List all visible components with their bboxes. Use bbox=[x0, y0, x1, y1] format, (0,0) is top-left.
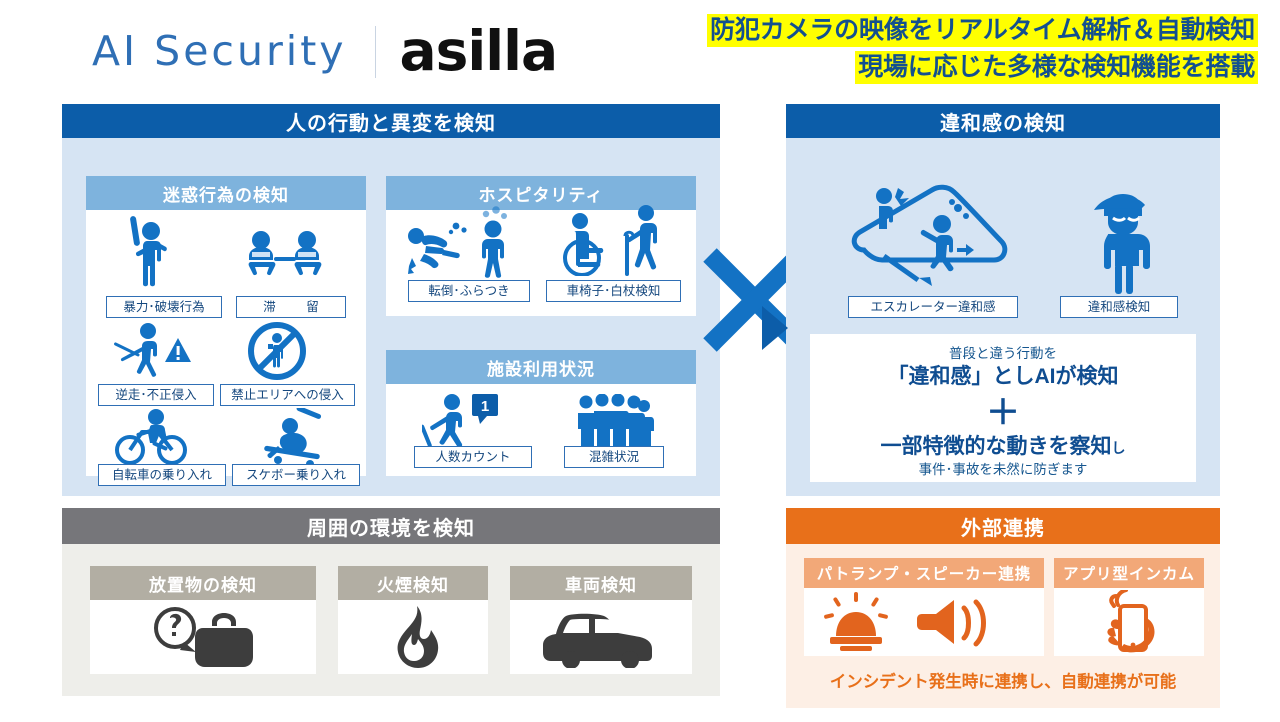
insight-line-3-main: 一部特徴的な動きを察知 bbox=[881, 435, 1112, 458]
falling-person-icon bbox=[400, 220, 468, 276]
tagline-line-1: 防犯カメラの映像をリアルタイム解析＆自動検知 bbox=[707, 14, 1258, 47]
insight-line-3: 一部特徴的な動きを察知し bbox=[810, 434, 1196, 459]
tag-violence-destruction[interactable]: 暴力･破壊行為 bbox=[106, 296, 222, 318]
tagline: 防犯カメラの映像をリアルタイム解析＆自動検知 現場に応じた多様な検知機能を搭載 bbox=[707, 14, 1258, 87]
skateboard-icon bbox=[254, 408, 336, 466]
tag-restricted-area-entry[interactable]: 禁止エリアへの侵入 bbox=[220, 384, 355, 406]
insight-line-2: 「違和感」としAIが検知 bbox=[810, 364, 1196, 390]
insight-box: 普段と違う行動を 「違和感」としAIが検知 ＋ 一部特徴的な動きを察知し 事件･… bbox=[810, 334, 1196, 482]
card-fire-smoke: 火煙検知 bbox=[338, 566, 488, 674]
tag-wheelchair-cane[interactable]: 車椅子･白杖検知 bbox=[546, 280, 681, 302]
alarm-lamp-speaker-icon bbox=[824, 592, 1024, 654]
card-app-intercom: アプリ型インカム bbox=[1054, 558, 1204, 656]
panel-external-body: パトランプ・スピーカー連携 bbox=[786, 544, 1220, 708]
slide-canvas: AI Security asilla 防犯カメラの映像をリアルタイム解析＆自動検… bbox=[0, 0, 1280, 722]
panel-human-behavior-title: 人の行動と異変を検知 bbox=[62, 104, 720, 138]
card-facility-title: 施設利用状況 bbox=[386, 350, 696, 384]
walking-with-cane-icon bbox=[614, 204, 670, 278]
abandoned-bag-icon bbox=[148, 606, 258, 668]
external-note: インシデント発生時に連携し、自動連携が可能 bbox=[786, 668, 1220, 692]
panel-environment-title: 周囲の環境を検知 bbox=[62, 508, 720, 544]
panel-environment-body: 放置物の検知 火煙検知 bbox=[62, 544, 720, 696]
right-arrow-icon bbox=[762, 300, 796, 356]
card-nuisance-title: 迷惑行為の検知 bbox=[86, 176, 366, 210]
tag-loitering[interactable]: 滞 留 bbox=[236, 296, 346, 318]
panel-anomaly-title: 違和感の検知 bbox=[786, 104, 1220, 138]
card-alarm-speaker: パトランプ・スピーカー連携 bbox=[804, 558, 1044, 656]
bicycle-icon bbox=[114, 408, 194, 466]
panel-anomaly-body: エスカレーター違和感 違和感検知 普段と違う行動を 「違和感」としAIが検知 ＋… bbox=[786, 138, 1220, 496]
tag-anomaly-detection[interactable]: 違和感検知 bbox=[1060, 296, 1178, 318]
svg-text:1: 1 bbox=[481, 398, 489, 415]
card-facility-usage: 施設利用状況 1 bbox=[386, 350, 696, 476]
panel-environment: 周囲の環境を検知 放置物の検知 火煙検知 bbox=[62, 508, 720, 696]
wheelchair-cane-icon bbox=[558, 212, 612, 276]
staggering-person-icon bbox=[470, 206, 516, 278]
panel-external-integration: 外部連携 パトランプ・スピーカー連携 bbox=[786, 508, 1220, 708]
crowd-icon bbox=[574, 394, 654, 448]
card-abandoned-object-title: 放置物の検知 bbox=[90, 566, 316, 600]
panel-anomaly-detection: 違和感の検知 bbox=[786, 104, 1220, 496]
panel-external-title: 外部連携 bbox=[786, 508, 1220, 544]
card-hospitality: ホスピタリティ bbox=[386, 176, 696, 316]
card-nuisance-detection: 迷惑行為の検知 bbox=[86, 176, 366, 476]
two-crouching-people-icon bbox=[241, 230, 329, 286]
tag-skateboard-entry[interactable]: スケボー乗り入れ bbox=[232, 464, 360, 486]
tag-congestion[interactable]: 混雑状況 bbox=[564, 446, 664, 468]
insight-plus-symbol: ＋ bbox=[810, 396, 1196, 430]
tag-fall-stagger[interactable]: 転倒･ふらつき bbox=[408, 280, 530, 302]
tag-bicycle-entry[interactable]: 自転車の乗り入れ bbox=[98, 464, 226, 486]
insight-line-1: 普段と違う行動を bbox=[810, 346, 1196, 362]
escalator-anomaly-icon bbox=[838, 184, 1018, 294]
tag-people-count[interactable]: 人数カウント bbox=[414, 446, 532, 468]
insight-line-4: 事件･事故を未然に防ぎます bbox=[810, 462, 1196, 478]
brand-ai-security-label: AI Security bbox=[92, 31, 347, 72]
card-vehicle: 車両検知 bbox=[510, 566, 692, 674]
person-with-bat-icon bbox=[114, 216, 176, 288]
panel-human-behavior-body: 迷惑行為の検知 bbox=[62, 138, 720, 496]
fire-smoke-icon bbox=[386, 606, 442, 668]
person-warning-icon bbox=[108, 322, 204, 378]
card-alarm-speaker-title: パトランプ・スピーカー連携 bbox=[804, 558, 1044, 588]
card-fire-smoke-title: 火煙検知 bbox=[338, 566, 488, 600]
insight-line-3-tail: し bbox=[1112, 440, 1126, 456]
card-abandoned-object: 放置物の検知 bbox=[90, 566, 316, 674]
panel-human-behavior: 人の行動と異変を検知 迷惑行為の検知 bbox=[62, 104, 720, 496]
person-count-icon: 1 bbox=[422, 392, 498, 450]
tagline-line-2: 現場に応じた多様な検知機能を搭載 bbox=[855, 51, 1258, 84]
suspicious-person-icon bbox=[1086, 188, 1160, 296]
no-entry-person-icon bbox=[246, 320, 308, 382]
brand-lockup: AI Security asilla bbox=[92, 24, 557, 79]
brand-divider bbox=[375, 26, 376, 78]
car-icon bbox=[542, 610, 660, 668]
card-app-intercom-title: アプリ型インカム bbox=[1054, 558, 1204, 588]
tag-wrong-way-intrusion[interactable]: 逆走･不正侵入 bbox=[98, 384, 214, 406]
card-vehicle-title: 車両検知 bbox=[510, 566, 692, 600]
brand-asilla-logo: asilla bbox=[400, 24, 558, 79]
tag-escalator-anomaly[interactable]: エスカレーター違和感 bbox=[848, 296, 1018, 318]
smartphone-intercom-icon bbox=[1098, 590, 1160, 656]
